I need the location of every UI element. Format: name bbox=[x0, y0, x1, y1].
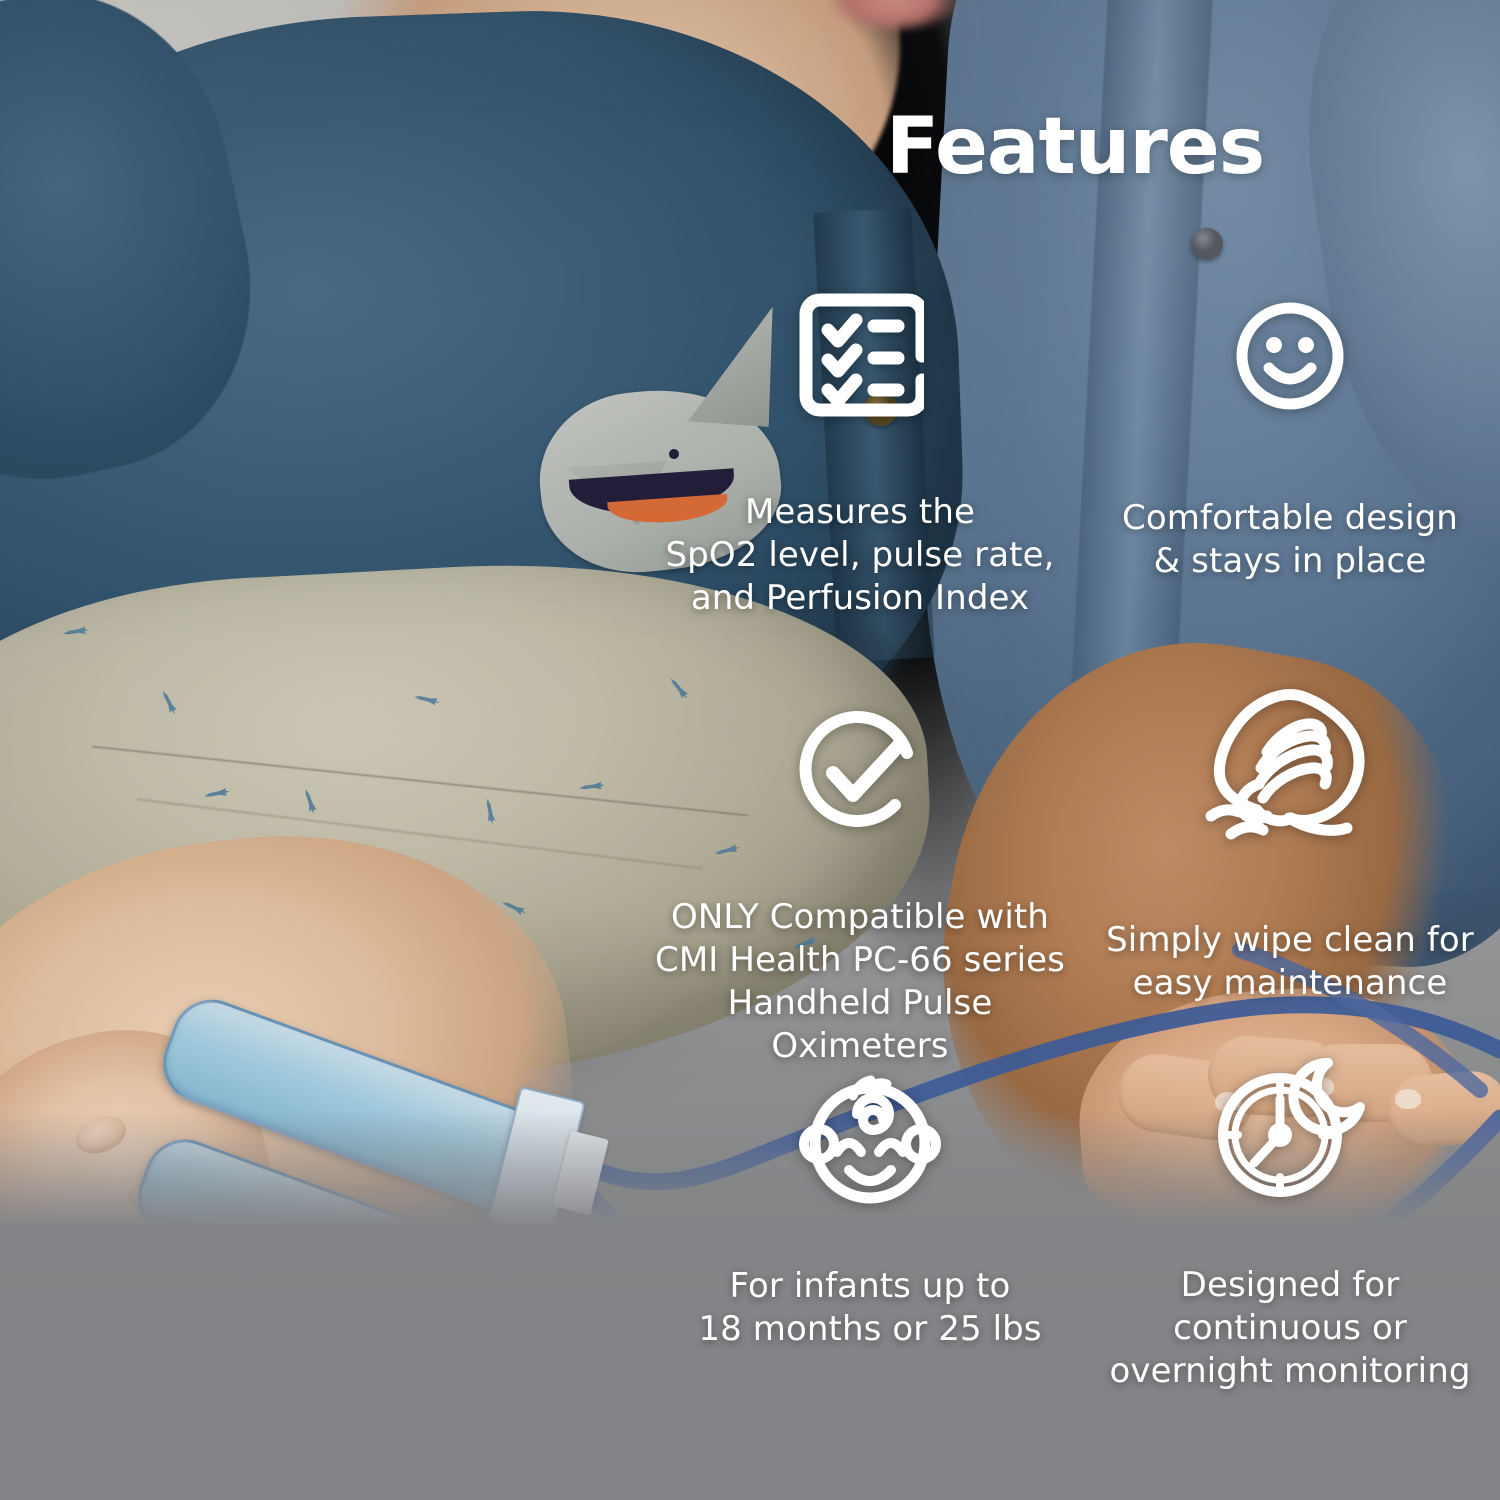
feature-caption: For infants up to 18 months or 25 lbs bbox=[698, 1265, 1041, 1351]
feature-caption: Comfortable design & stays in place bbox=[1122, 497, 1458, 583]
feature-item-comfort: Comfortable design & stays in place bbox=[1090, 300, 1490, 583]
feature-item-measures: Measures the SpO2 level, pulse rate, and… bbox=[640, 282, 1080, 620]
feature-item-monitoring: Designed for continuous or overnight mon… bbox=[1080, 1055, 1500, 1393]
feature-item-cleaning: Simply wipe clean for easy maintenance bbox=[1080, 688, 1500, 1005]
page-title: Features bbox=[860, 108, 1290, 186]
feature-item-age-range: For infants up to 18 months or 25 lbs bbox=[650, 1068, 1090, 1351]
product-feature-graphic: Features Measures the SpO2 level, pulse … bbox=[0, 0, 1500, 1500]
checklist-icon bbox=[796, 282, 924, 433]
feature-caption: ONLY Compatible with CMI Health PC-66 se… bbox=[640, 896, 1080, 1068]
feature-item-compatibility: ONLY Compatible with CMI Health PC-66 se… bbox=[640, 705, 1080, 1068]
feature-caption: Measures the SpO2 level, pulse rate, and… bbox=[665, 491, 1054, 620]
feature-overlay: Features Measures the SpO2 level, pulse … bbox=[0, 0, 1500, 1500]
baby-face-icon bbox=[797, 1068, 943, 1213]
check-circle-icon bbox=[795, 705, 925, 840]
feature-caption: Designed for continuous or overnight mon… bbox=[1109, 1264, 1470, 1393]
clock-moon-icon bbox=[1210, 1055, 1370, 1210]
wipe-clean-hand-icon bbox=[1205, 688, 1375, 855]
feature-caption: Simply wipe clean for easy maintenance bbox=[1106, 919, 1474, 1005]
smiley-face-icon bbox=[1234, 300, 1346, 417]
